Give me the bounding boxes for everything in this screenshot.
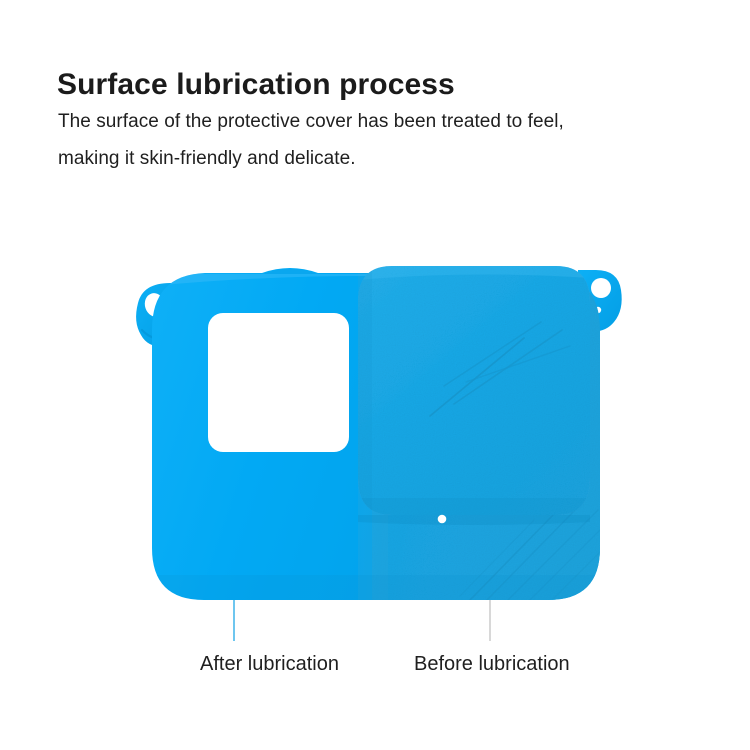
shutter-button-bump <box>262 269 318 274</box>
microphone-hole <box>438 515 447 524</box>
product-feature-panel: Surface lubrication process The surface … <box>0 0 750 750</box>
description-text: The surface of the protective cover has … <box>58 103 698 177</box>
page-title: Surface lubrication process <box>57 66 455 104</box>
lens-cover-flap <box>358 266 590 525</box>
case-shell <box>152 260 612 610</box>
description-line-1: The surface of the protective cover has … <box>58 103 698 140</box>
description-line-2: making it skin-friendly and delicate. <box>58 140 698 177</box>
leader-line-before <box>489 600 491 641</box>
caption-after-lubrication: After lubrication <box>200 651 339 677</box>
caption-before-lubrication: Before lubrication <box>414 651 570 677</box>
screen-cutout <box>208 313 349 452</box>
surface-streak-marks <box>460 505 600 600</box>
left-mount-tab <box>136 283 178 347</box>
leader-line-after <box>233 600 235 641</box>
right-mount-tab <box>578 270 622 331</box>
